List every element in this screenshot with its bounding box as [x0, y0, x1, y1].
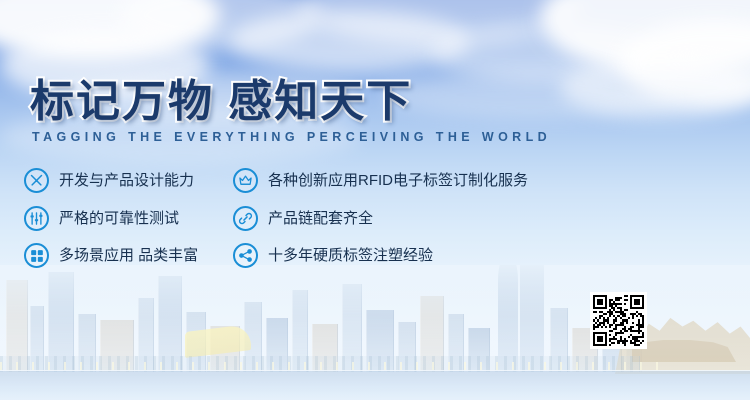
feature-label: 严格的可靠性测试 — [59, 211, 179, 226]
feature-item: 十多年硬质标签注塑经验 — [233, 243, 433, 268]
feature-label: 十多年硬质标签注塑经验 — [268, 248, 433, 263]
feature-item: 严格的可靠性测试 — [24, 206, 179, 231]
crown-icon — [233, 168, 258, 193]
grid-icon — [24, 243, 49, 268]
feature-label: 多场景应用 品类丰富 — [59, 248, 198, 263]
feature-item: 多场景应用 品类丰富 — [24, 243, 198, 268]
page-title: 标记万物 感知天下 — [30, 76, 412, 128]
qr-code-pattern — [593, 295, 644, 346]
link-icon — [233, 206, 258, 231]
feature-item: 各种创新应用RFID电子标签订制化服务 — [233, 168, 528, 193]
share-icon — [233, 243, 258, 268]
page-subtitle: TAGGING THE EVERYTHING PERCEIVING THE WO… — [32, 130, 551, 144]
feature-label: 各种创新应用RFID电子标签订制化服务 — [268, 173, 528, 188]
sliders-icon — [24, 206, 49, 231]
promo-banner: 标记万物 感知天下 TAGGING THE EVERYTHING PERCEIV… — [0, 0, 750, 400]
tools-icon — [24, 168, 49, 193]
qr-code[interactable] — [590, 292, 647, 349]
feature-item: 产品链配套齐全 — [233, 206, 373, 231]
feature-label: 开发与产品设计能力 — [59, 173, 194, 188]
feature-item: 开发与产品设计能力 — [24, 168, 194, 193]
feature-label: 产品链配套齐全 — [268, 211, 373, 226]
